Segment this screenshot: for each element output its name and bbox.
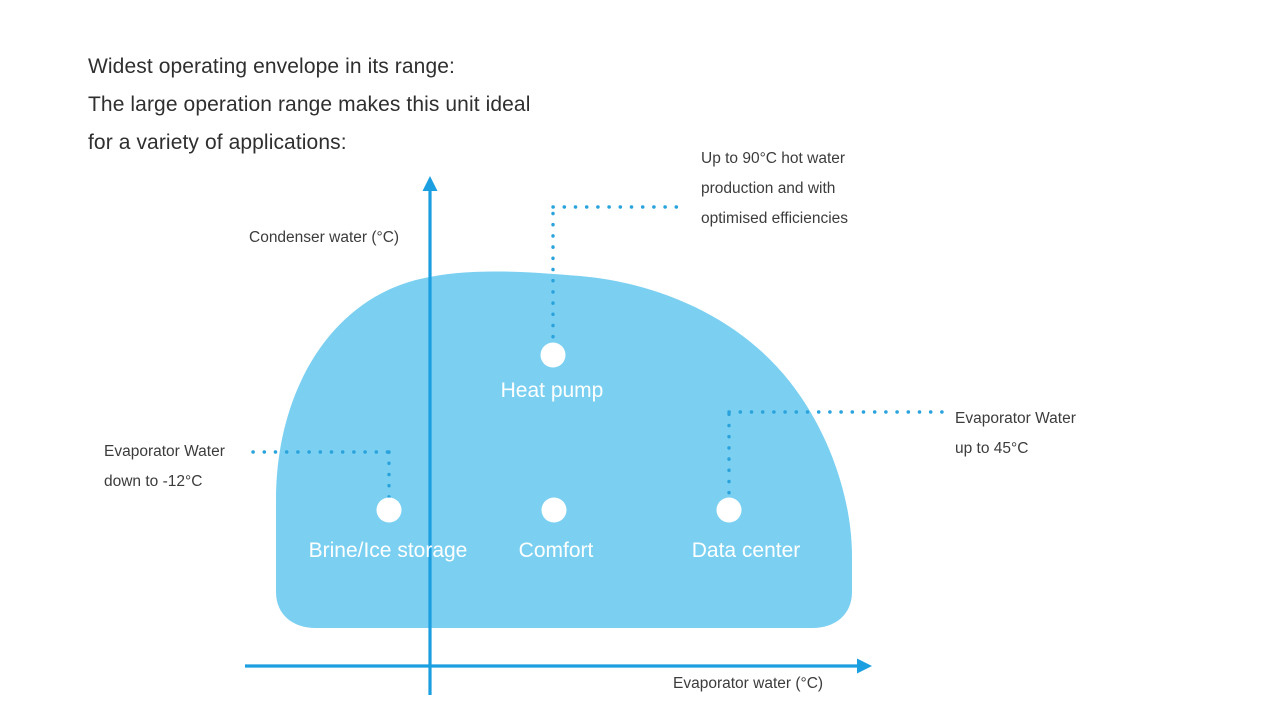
annotation-evaporator-min-line-2: down to -12°C [104,467,225,497]
annotation-evaporator-min: Evaporator Water down to -12°C [104,437,225,497]
annotation-evaporator-max-line-1: Evaporator Water [955,404,1076,434]
annotation-evaporator-max-line-2: up to 45°C [955,434,1076,464]
x-axis-arrowhead [857,659,872,674]
annotation-evaporator-min-line-1: Evaporator Water [104,437,225,467]
envelope-label-heat-pump: Heat pump [452,376,652,406]
envelope-label-data-center: Data center [646,536,846,566]
operating-envelope-shape [276,271,852,628]
y-axis-label: Condenser water (°C) [249,229,399,247]
operating-point-marker-heat-pump[interactable] [541,343,566,368]
annotation-condenser-max: Up to 90°C hot water production and with… [701,144,848,234]
annotation-condenser-max-line-1: Up to 90°C hot water [701,144,848,174]
operating-envelope-diagram [0,0,1280,720]
operating-point-marker-comfort[interactable] [542,498,567,523]
y-axis-arrowhead [423,176,438,191]
annotation-condenser-max-line-2: production and with [701,174,848,204]
annotation-condenser-max-line-3: optimised efficiencies [701,204,848,234]
slide-canvas: Widest operating envelope in its range: … [0,0,1280,720]
operating-point-marker-data-center[interactable] [717,498,742,523]
annotation-evaporator-max: Evaporator Water up to 45°C [955,404,1076,464]
x-axis-label: Evaporator water (°C) [673,675,823,693]
envelope-label-comfort: Comfort [456,536,656,566]
operating-point-marker-brine-ice-storage[interactable] [377,498,402,523]
